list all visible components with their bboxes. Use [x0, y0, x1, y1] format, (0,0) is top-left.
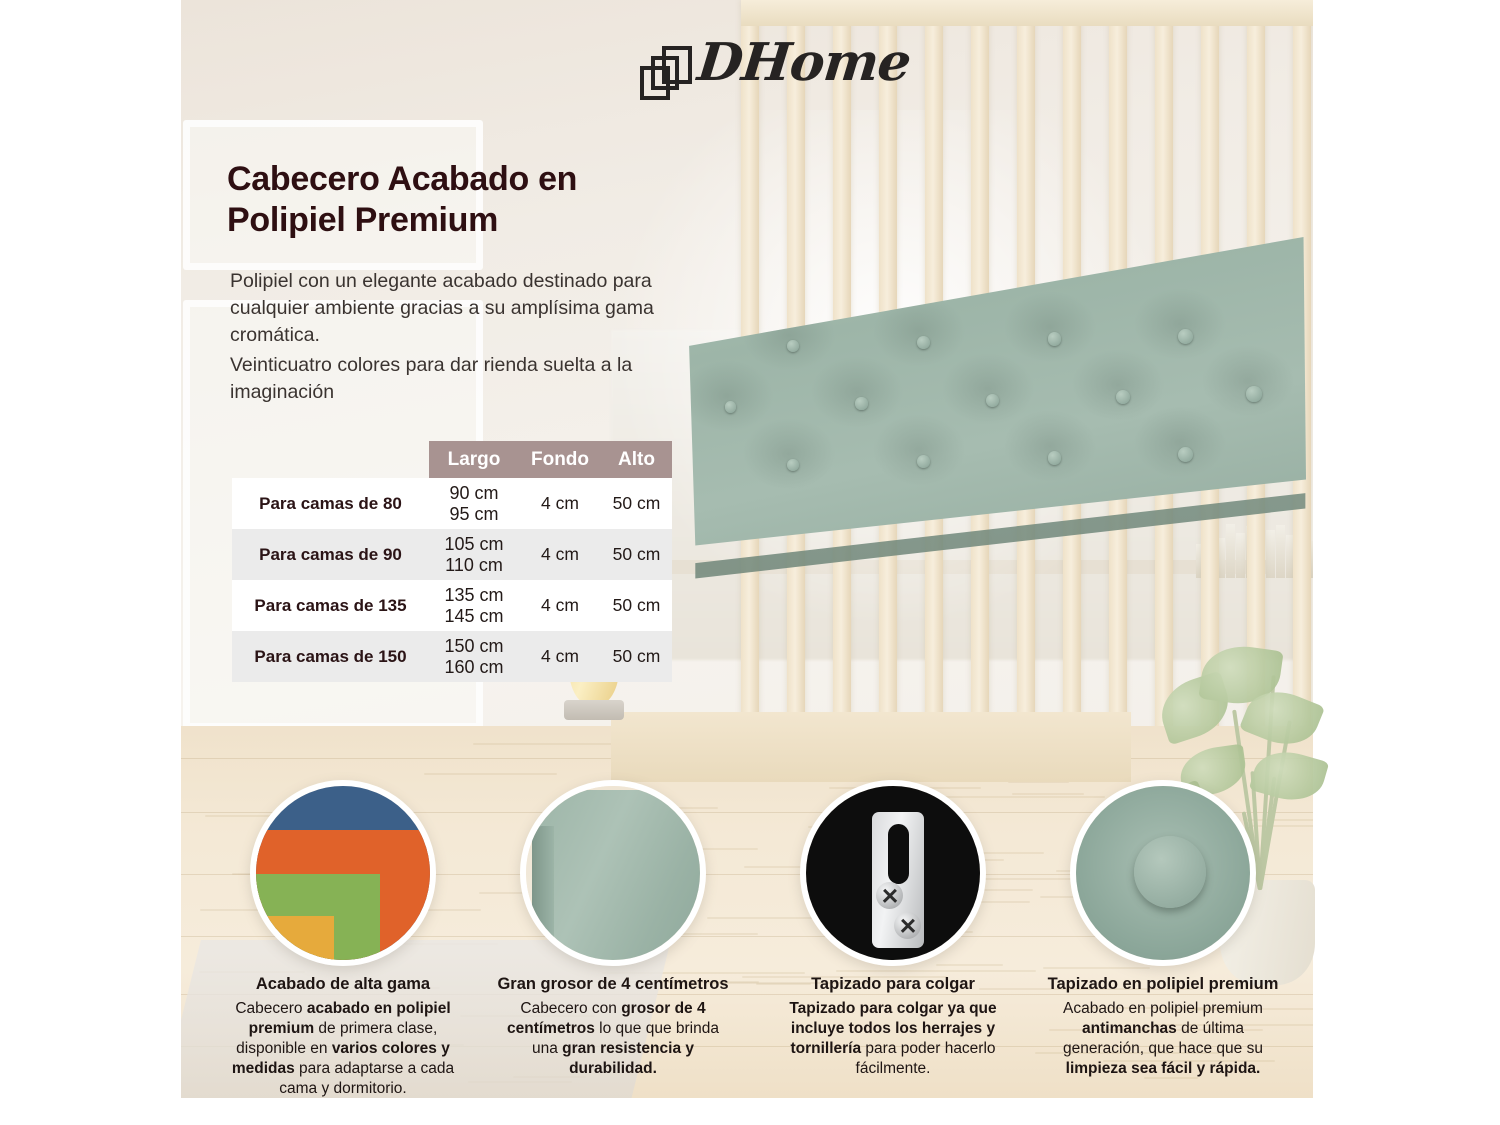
brand-name: DHome	[695, 32, 913, 93]
tuft-dimple	[871, 294, 967, 368]
table-row: Para camas de 90105 cm110 cm4 cm50 cm	[232, 529, 672, 580]
screw-icon-1	[876, 882, 903, 909]
cell-alto: 50 cm	[601, 545, 672, 565]
tuft-button	[986, 394, 999, 407]
swatch-yellow	[250, 916, 334, 966]
screw-icon-2	[894, 912, 921, 939]
row-label: Para camas de 135	[232, 596, 429, 616]
feature-icon-fabric-swatches	[250, 780, 436, 966]
column-header-largo: Largo	[429, 449, 519, 471]
feature-title-1: Acabado de alta gama	[223, 975, 463, 995]
bracket-keyhole-slot	[888, 824, 909, 884]
table-row: Para camas de 135135 cm145 cm4 cm50 cm	[232, 580, 672, 631]
floor-grain	[1012, 793, 1084, 795]
dresser-top	[611, 712, 1131, 782]
table-row: Para camas de 150150 cm160 cm4 cm50 cm	[232, 631, 672, 682]
page-title-line2: Polipiel Premium	[227, 200, 697, 241]
tuft-button	[787, 459, 799, 471]
tuft-button	[1246, 386, 1262, 402]
floor-grain	[1043, 967, 1150, 969]
tuft-button	[787, 340, 799, 352]
brand-logo: DHome	[640, 30, 900, 110]
cell-alto: 50 cm	[601, 647, 672, 667]
infographic-canvas: DHome Cabecero Acabado en Polipiel Premi…	[0, 0, 1500, 1125]
row-label: Para camas de 90	[232, 545, 429, 565]
column-header-fondo: Fondo	[519, 449, 601, 471]
cell-fondo: 4 cm	[519, 494, 601, 514]
feature-icon-tufted-button	[1070, 780, 1256, 966]
tuft-dimple	[1200, 344, 1296, 418]
product-headboard-image	[686, 232, 1306, 652]
tuft-dimple	[871, 413, 967, 487]
page-title: Cabecero Acabado en Polipiel Premium	[227, 159, 697, 242]
lamp-base	[564, 700, 624, 720]
feature-body-4: Acabado en polipiel premium antimanchas …	[1043, 999, 1283, 1080]
feature-body-2: Cabecero con grosor de 4 centímetros lo …	[493, 999, 733, 1080]
row-label: Para camas de 80	[232, 494, 429, 514]
intro-paragraph-1: Polipiel con un elegante acabado destina…	[230, 268, 690, 349]
crib-top-rail	[741, 0, 1313, 26]
floor-grain	[936, 964, 1003, 966]
feature-caption-4: Tapizado en polipiel premium Acabado en …	[1043, 975, 1283, 1079]
feature-body-1: Cabecero acabado en polipiel premium de …	[223, 999, 463, 1100]
page-title-line1: Cabecero Acabado en	[227, 159, 697, 200]
feature-title-3: Tapizado para colgar	[773, 975, 1013, 995]
tuft-dimple	[1002, 290, 1098, 364]
headboard-corner-fold	[532, 826, 554, 966]
cell-fondo: 4 cm	[519, 545, 601, 565]
cell-alto: 50 cm	[601, 596, 672, 616]
floor-grain	[984, 889, 1033, 891]
cell-largo: 90 cm95 cm	[429, 483, 519, 523]
headboard	[686, 232, 1306, 652]
tuft-button	[725, 401, 736, 412]
cell-alto: 50 cm	[601, 494, 672, 514]
cell-largo: 105 cm110 cm	[429, 534, 519, 574]
cell-fondo: 4 cm	[519, 596, 601, 616]
row-label: Para camas de 150	[232, 647, 429, 667]
table-body: Para camas de 8090 cm95 cm4 cm50 cmPara …	[232, 478, 672, 682]
tuft-dimple	[1132, 405, 1228, 479]
feature-icon-thickness-corner	[520, 780, 706, 966]
feature-caption-1: Acabado de alta gama Cabecero acabado en…	[223, 975, 463, 1100]
tuft-dimple	[1002, 409, 1098, 483]
headboard-corner	[532, 790, 706, 966]
cell-largo: 135 cm145 cm	[429, 585, 519, 625]
floor-grain	[424, 773, 557, 775]
tuft-dimple	[809, 355, 905, 429]
feature-caption-3: Tapizado para colgar Tapizado para colga…	[773, 975, 1013, 1079]
column-header-alto: Alto	[601, 449, 672, 471]
plant-leaf	[1249, 743, 1330, 808]
feature-caption-2: Gran grosor de 4 centímetros Cabecero co…	[493, 975, 733, 1079]
cell-fondo: 4 cm	[519, 647, 601, 667]
feature-icon-wall-bracket	[800, 780, 986, 966]
table-row: Para camas de 8090 cm95 cm4 cm50 cm	[232, 478, 672, 529]
layered-squares-logo-icon	[640, 44, 698, 104]
feature-title-2: Gran grosor de 4 centímetros	[493, 975, 733, 995]
cell-largo: 150 cm160 cm	[429, 636, 519, 676]
tuft-dimple	[940, 352, 1036, 426]
table-header-row: Largo Fondo Alto	[429, 441, 672, 478]
tuft-dimple	[679, 359, 775, 433]
tuft-dimple	[741, 298, 837, 372]
tufted-button	[1134, 836, 1206, 908]
tuft-button	[1178, 329, 1193, 344]
tuft-dimple	[1132, 287, 1228, 361]
intro-paragraph-2: Veinticuatro colores para dar rienda sue…	[230, 352, 670, 406]
floor-grain	[836, 970, 1036, 972]
feature-body-3: Tapizado para colgar ya que incluye todo…	[773, 999, 1013, 1080]
tuft-button	[855, 397, 867, 409]
tuft-dimple	[741, 417, 837, 491]
feature-title-4: Tapizado en polipiel premium	[1043, 975, 1283, 995]
